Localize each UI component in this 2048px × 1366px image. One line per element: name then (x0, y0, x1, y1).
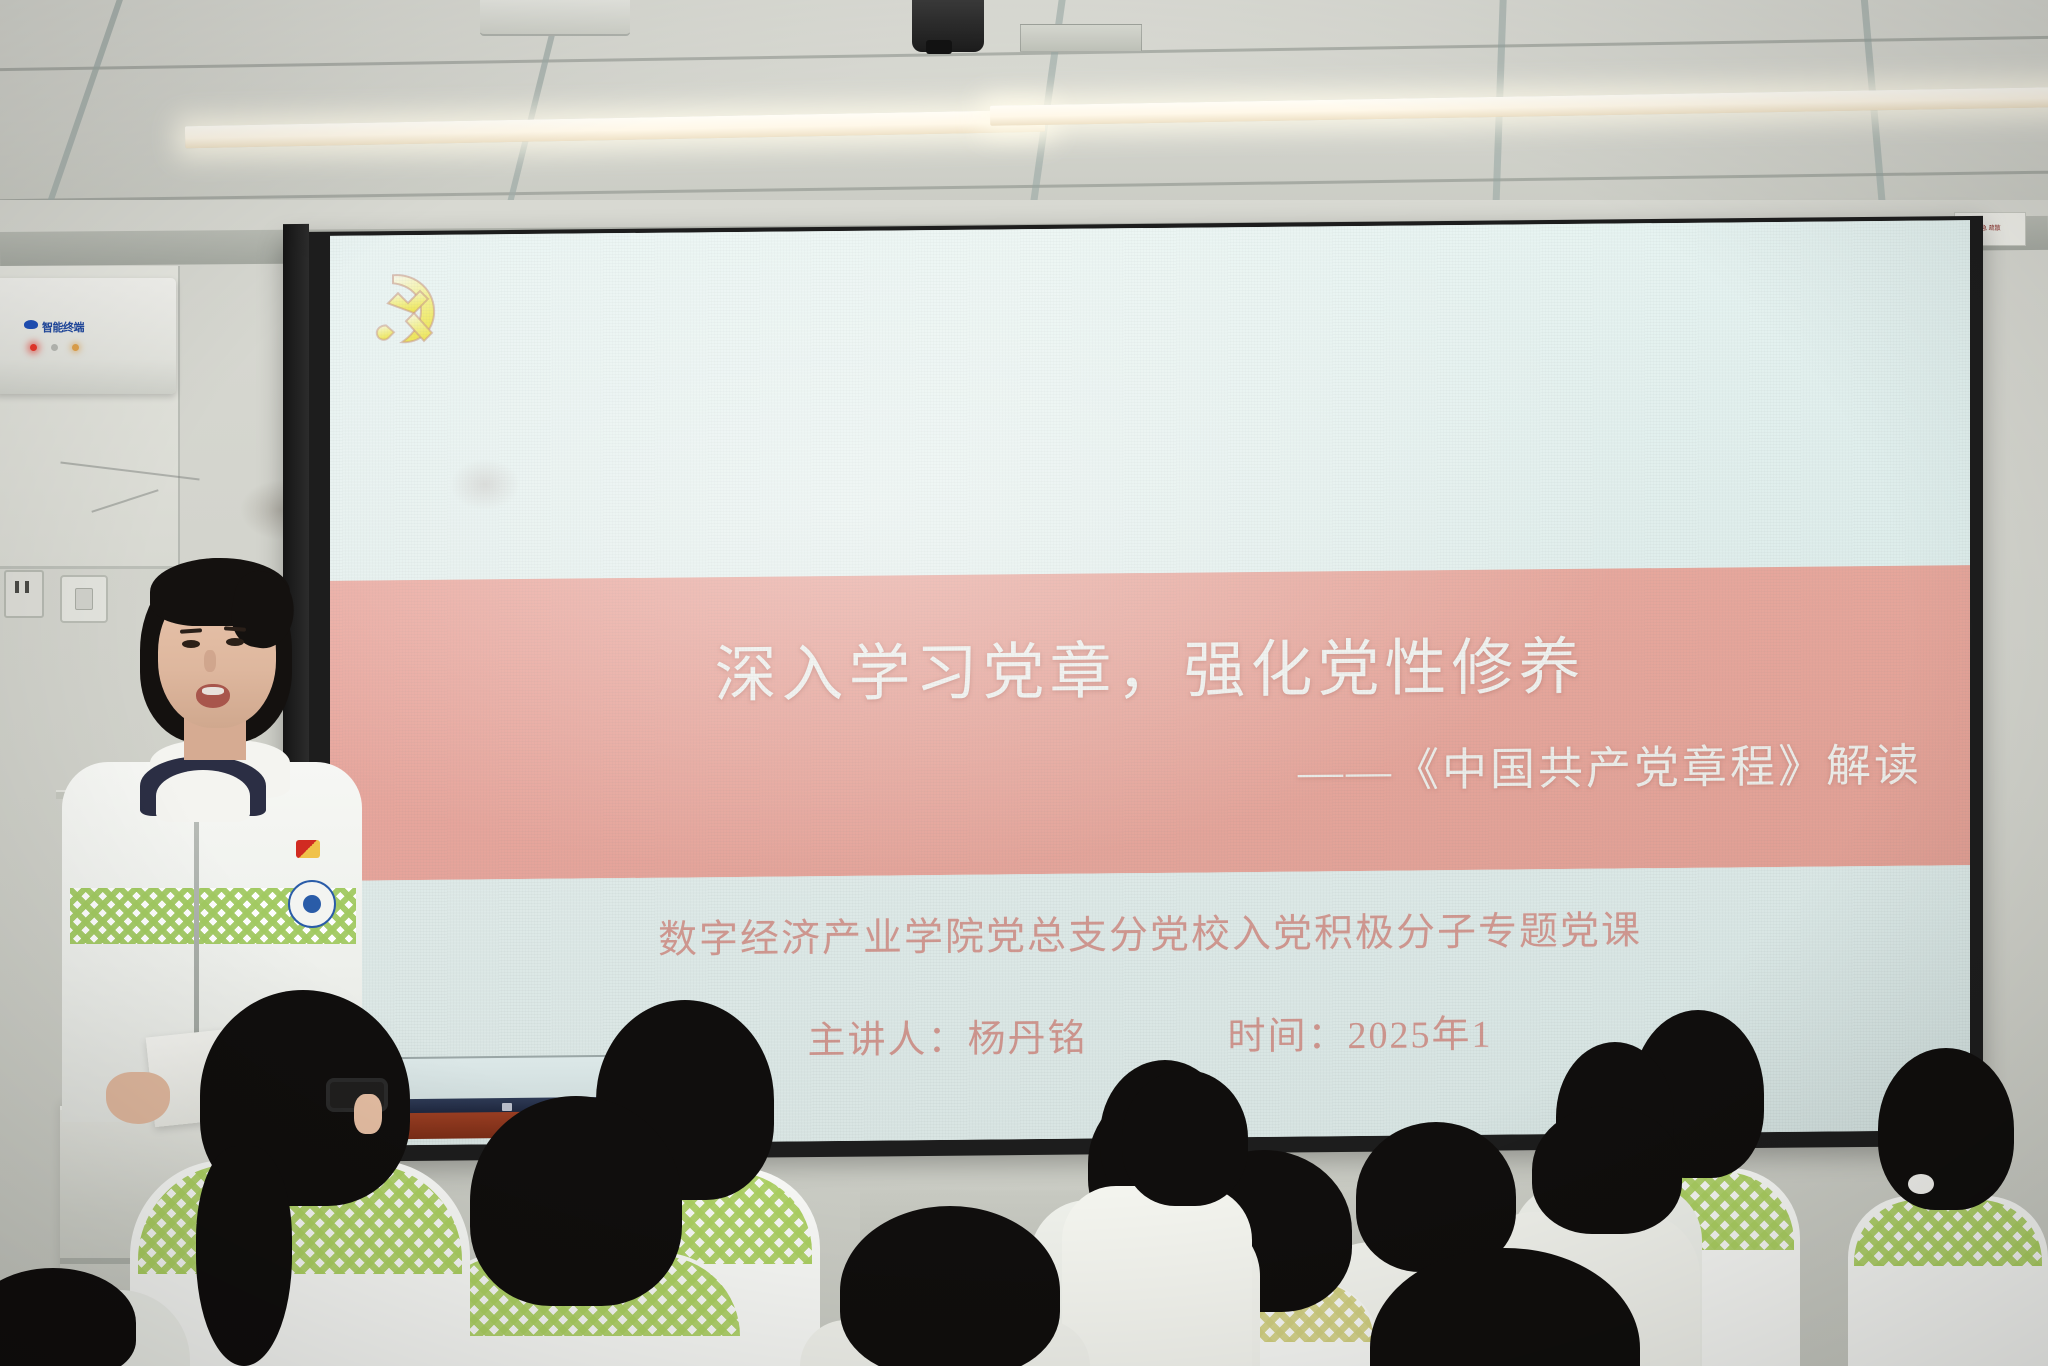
device-led-group (30, 344, 79, 351)
audience-uniform (1062, 1186, 1252, 1366)
audience-head (840, 1206, 1060, 1366)
brand-logo-icon (24, 320, 38, 329)
presenter-mouth (196, 684, 230, 708)
slide-speaker-label: 主讲人：杨丹铭 (807, 1007, 1087, 1065)
light-switch[interactable] (60, 575, 108, 623)
ceiling-speaker-box (1020, 24, 1142, 52)
audience-head (1878, 1048, 2014, 1210)
presenter-jacket-collar (140, 756, 266, 816)
audience-ponytail (196, 1146, 292, 1366)
presenter-eye (182, 640, 200, 648)
tray-clip-icon (502, 1103, 512, 1111)
presenter-eye (226, 638, 244, 646)
school-logo-icon (288, 880, 336, 928)
fluorescent-light-icon (990, 86, 2048, 126)
presenter-fringe (150, 558, 290, 626)
led-off-icon (51, 344, 58, 351)
wall-mounted-device: 智能终端 (0, 278, 176, 394)
ceiling-tile-seam (0, 169, 2048, 203)
slide-time-label: 时间：2025年1 (1228, 1003, 1493, 1061)
wall-device-brand-label: 智能终端 (42, 319, 84, 335)
ceiling-projector (912, 0, 984, 52)
led-amber-icon (72, 344, 79, 351)
party-badge-icon (296, 840, 320, 858)
presenter-nose (204, 650, 216, 672)
slide-subtitle: ——《中国共产党章程》解读 (1298, 729, 1922, 800)
classroom-photo-scene: 智能终端 紧急 疏散 (0, 0, 2048, 1366)
slide-band-middle (330, 565, 1970, 881)
audience-cheek (354, 1094, 382, 1134)
fluorescent-light-icon (185, 110, 1045, 149)
led-red-icon (30, 344, 37, 351)
audience-head (1532, 1106, 1682, 1234)
presenter-hand (106, 1072, 170, 1124)
slide-title: 深入学习党章，强化党性修养 (330, 612, 1970, 718)
audience-head (470, 1096, 682, 1306)
projection-screen: 深入学习党章，强化党性修养 ——《中国共产党章程》解读 数字经济产业学院党总支分… (330, 220, 1970, 1146)
audience-head (1122, 1070, 1248, 1206)
slide-band-top (330, 220, 1970, 581)
hair-clip-icon (1908, 1174, 1934, 1194)
party-emblem-icon (364, 263, 450, 352)
power-outlet[interactable] (4, 570, 44, 618)
ceiling-vent (480, 0, 630, 36)
